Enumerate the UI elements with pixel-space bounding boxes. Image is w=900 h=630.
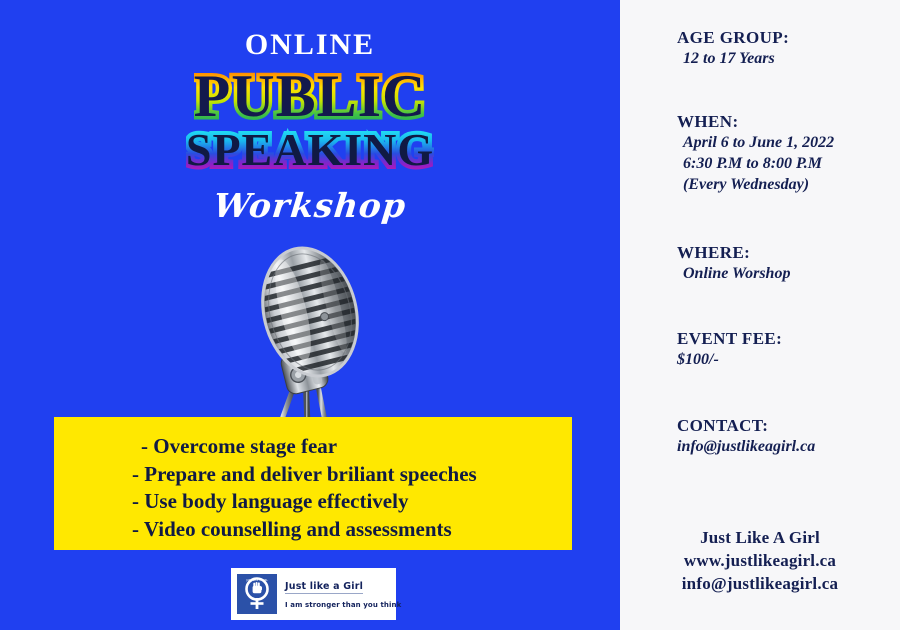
benefits-box: - Overcome stage fear - Prepare and deli…: [54, 417, 572, 550]
logo-title: Just like a Girl: [285, 581, 363, 594]
age-group-value: 12 to 17 Years: [677, 48, 900, 69]
poster-kicker: ONLINE: [0, 28, 620, 62]
svg-text:JUST LIKE A GIRL: JUST LIKE A GIRL: [245, 578, 268, 582]
info-block-contact: CONTACT: info@justlikeagirl.ca: [620, 416, 900, 457]
where-label: WHERE:: [677, 243, 900, 263]
female-fist-venus-symbol-icon: JUST LIKE A GIRL: [237, 574, 277, 614]
contact-label: CONTACT:: [677, 416, 900, 436]
info-block-where: WHERE: Online Worshop: [620, 243, 900, 284]
title-public-core: PUBLIC: [194, 66, 427, 126]
title-speaking-core: SPEAKING: [186, 127, 434, 173]
poster-right-panel: AGE GROUP: 12 to 17 Years WHEN: April 6 …: [620, 0, 900, 630]
info-block-age-group: AGE GROUP: 12 to 17 Years: [620, 28, 900, 69]
footer-contact-block: Just Like A Girl www.justlikeagirl.ca in…: [620, 526, 900, 595]
poster-title-line2: SPEAKING SPEAKING: [0, 127, 620, 173]
age-group-label: AGE GROUP:: [677, 28, 900, 48]
footer-website[interactable]: www.justlikeagirl.ca: [620, 549, 900, 572]
when-label: WHEN:: [677, 112, 900, 132]
benefits-list: - Overcome stage fear - Prepare and deli…: [54, 433, 572, 543]
poster-root: ONLINE PUBLIC PUBLIC SPEAKING SPEAKING W…: [0, 0, 900, 630]
poster-title-line1: PUBLIC PUBLIC: [0, 66, 620, 126]
when-dates: April 6 to June 1, 2022: [677, 132, 900, 153]
microphone-illustration: [230, 236, 410, 436]
event-fee-label: EVENT FEE:: [677, 329, 900, 349]
logo-text-group: Just like a Girl I am stronger than you …: [285, 576, 401, 612]
title-speaking-gradient: SPEAKING SPEAKING: [186, 127, 434, 173]
event-fee-value: $100/-: [677, 349, 900, 370]
benefit-item: - Video counselling and assessments: [132, 516, 572, 544]
benefit-item: - Use body language effectively: [132, 488, 572, 516]
microphone-head: [250, 238, 371, 386]
benefit-item: - Overcome stage fear: [132, 433, 572, 461]
benefit-item: - Prepare and deliver briliant speeches: [132, 461, 572, 489]
when-frequency: (Every Wednesday): [677, 174, 900, 195]
info-block-event-fee: EVENT FEE: $100/-: [620, 329, 900, 370]
poster-subtitle: Workshop: [0, 186, 622, 225]
footer-email[interactable]: info@justlikeagirl.ca: [620, 572, 900, 595]
info-block-when: WHEN: April 6 to June 1, 2022 6:30 P.M t…: [620, 112, 900, 195]
logo-tagline: I am stronger than you think: [285, 601, 401, 609]
organization-logo: JUST LIKE A GIRL Just like a Girl I am s…: [231, 568, 396, 620]
where-value: Online Worshop: [677, 263, 900, 284]
title-public-gradient: PUBLIC PUBLIC: [194, 66, 427, 126]
footer-organization: Just Like A Girl: [620, 526, 900, 549]
vintage-microphone-icon: [230, 236, 410, 436]
contact-email[interactable]: info@justlikeagirl.ca: [677, 436, 900, 457]
poster-left-panel: ONLINE PUBLIC PUBLIC SPEAKING SPEAKING W…: [0, 0, 620, 630]
when-times: 6:30 P.M to 8:00 P.M: [677, 153, 900, 174]
